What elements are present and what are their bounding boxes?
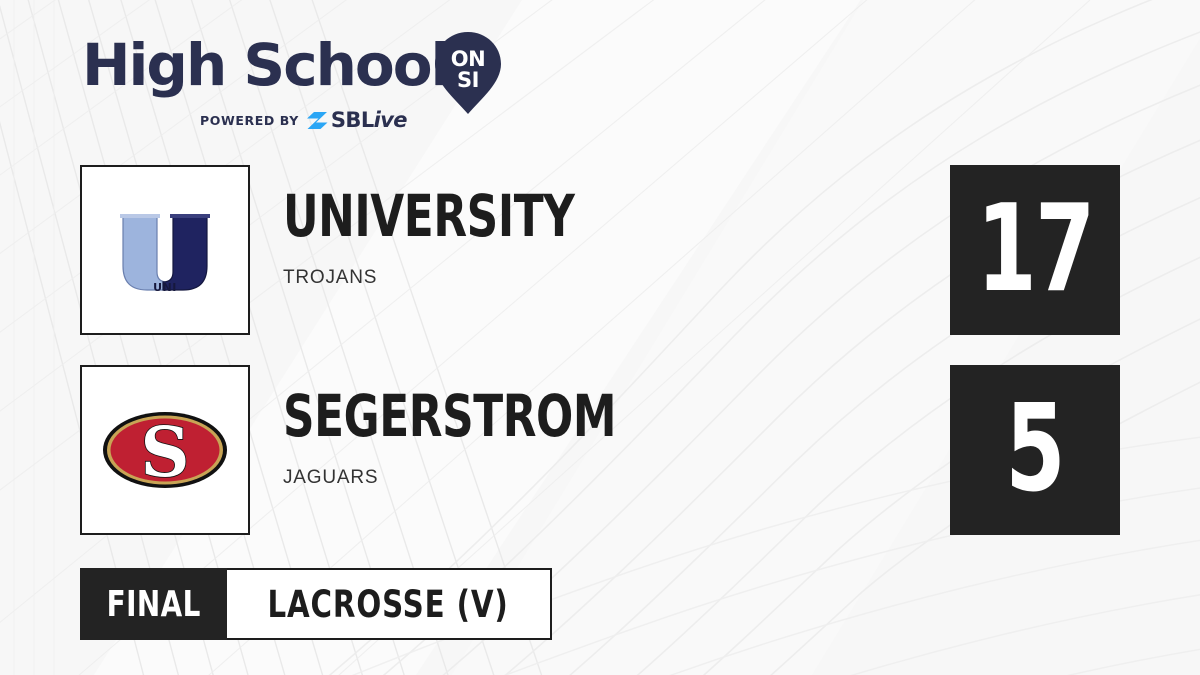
team-score-box: 17 [950, 165, 1120, 335]
powered-by-label: POWERED BY [200, 113, 299, 128]
team-logo-card-university[interactable]: UNI [80, 165, 250, 335]
team-logo-card-segerstrom[interactable]: S [80, 365, 250, 535]
team-identity: UNIVERSITY TROJANS [283, 187, 630, 289]
team-score-box: 5 [950, 365, 1120, 535]
scoreboard-graphic: High School ON SI POWERED BY SBLive [0, 0, 1200, 675]
team-score: 17 [976, 190, 1093, 310]
team-name: SEGERSTROM [283, 387, 616, 445]
sport-label-box: LACROSSE (V) [227, 568, 552, 640]
sblive-name-bold: SBL [331, 108, 374, 132]
university-u-logo-icon: UNI [105, 190, 225, 310]
segerstrom-s-oval-logo-icon: S [95, 395, 235, 505]
university-logo-mark-text: UNI [153, 281, 177, 294]
team-name: UNIVERSITY [283, 187, 575, 245]
game-status-bar: FINAL LACROSSE (V) [80, 568, 552, 640]
team-mascot: JAGUARS [283, 467, 680, 489]
on-si-pin-icon: ON SI [430, 30, 506, 116]
brand-wordmark: High School [82, 36, 448, 94]
game-state-label: FINAL [106, 584, 200, 625]
brand-header: High School ON SI POWERED BY SBLive [82, 36, 522, 136]
team-identity: SEGERSTROM JAGUARS [283, 387, 680, 489]
sport-label: LACROSSE (V) [268, 583, 509, 626]
team-row: S SEGERSTROM JAGUARS 5 [0, 365, 1200, 535]
team-row: UNI UNIVERSITY TROJANS 17 [0, 165, 1200, 335]
powered-by-row: POWERED BY SBLive [200, 110, 407, 131]
sblive-name-italic: ive [374, 108, 407, 132]
segerstrom-logo-mark-text: S [140, 413, 189, 493]
sblive-logo: SBLive [306, 110, 407, 131]
sblive-s-lightning-icon [306, 111, 328, 130]
sblive-wordmark: SBLive [331, 110, 407, 131]
game-state-badge: FINAL [80, 568, 227, 640]
team-mascot: TROJANS [283, 267, 630, 289]
team-score: 5 [1006, 390, 1065, 510]
pin-line-si: SI [457, 68, 479, 92]
